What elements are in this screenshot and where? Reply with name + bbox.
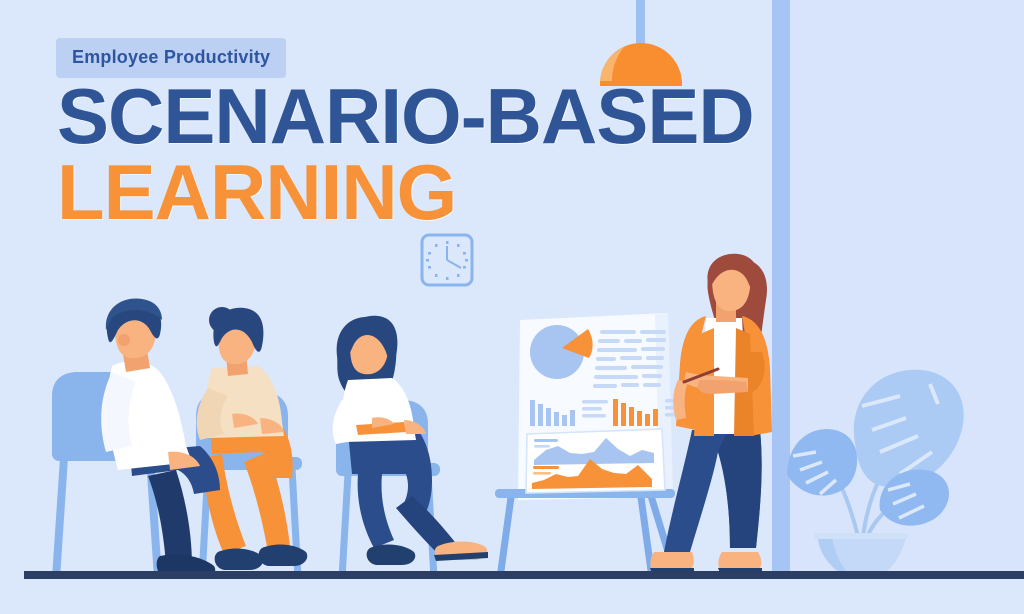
lamp-cord bbox=[636, 0, 645, 48]
flipchart-area-panel bbox=[526, 429, 665, 493]
presenter-forearm-right bbox=[698, 380, 748, 394]
floor-area bbox=[0, 579, 1024, 614]
wall-stripe bbox=[772, 0, 790, 580]
illustration-banner: Employee Productivity SCENARIO-BASED LEA… bbox=[0, 0, 1024, 614]
lamp-rim bbox=[600, 81, 682, 86]
floor-line bbox=[24, 571, 1024, 579]
scene-illustration bbox=[0, 0, 1024, 614]
plant-pot-rim bbox=[814, 533, 908, 539]
person1-ear bbox=[118, 334, 130, 346]
person2-hair-bun bbox=[209, 307, 235, 333]
